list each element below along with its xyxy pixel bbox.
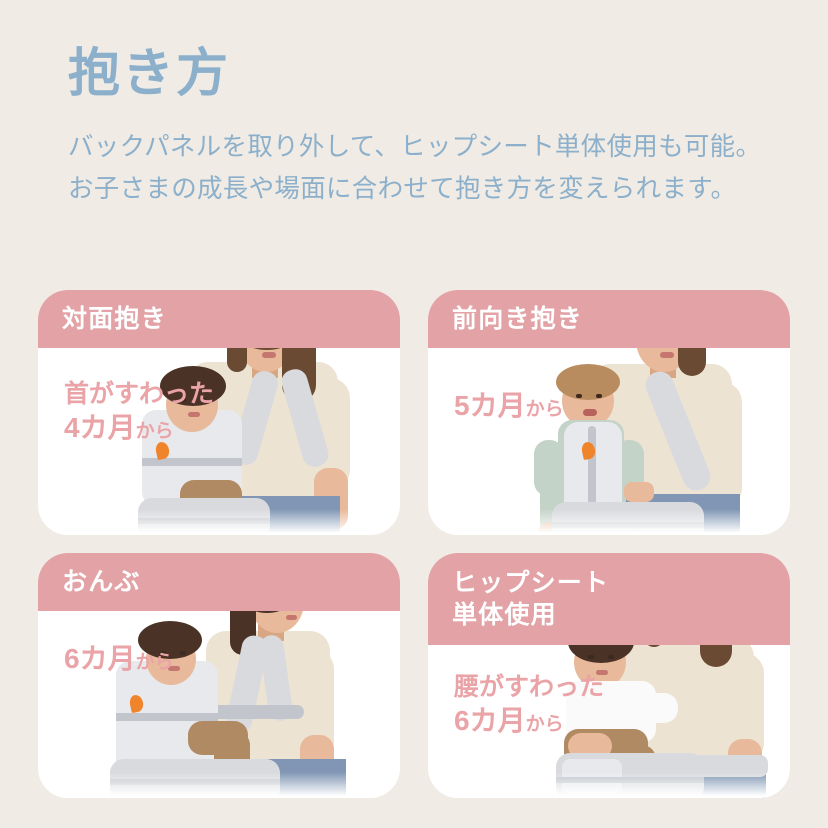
caption-condition: 腰がすわった [454,671,604,703]
card-back-carry[interactable]: おんぶ 6カ月から [38,553,400,798]
card-caption-front-carry: 首がすわった 4カ月から [64,378,214,446]
card-band-forward-facing: 前向き抱き [428,290,790,348]
card-band-back-carry: おんぶ [38,553,400,611]
photo-bottom-fade [428,509,790,535]
card-band-label: おんぶ [62,566,400,598]
subtitle-line-2: お子さまの成長や場面に合わせて抱き方を変えられます。 [68,168,788,210]
photo-bottom-fade [38,772,400,798]
photo-bottom-fade [428,772,790,798]
caption-age: 5カ月 [454,390,526,421]
card-grid: 対面抱き 首がすわった 4カ月から [38,290,790,798]
card-band-label-line1: ヒップシート [452,567,790,599]
infographic-page: 抱き方 バックパネルを取り外して、ヒップシート単体使用も可能。 お子さまの成長や… [0,0,828,828]
caption-suffix: から [136,421,174,442]
header: 抱き方 バックパネルを取り外して、ヒップシート単体使用も可能。 お子さまの成長や… [68,48,788,210]
page-title: 抱き方 [68,48,788,100]
card-band-label-line2: 単体使用 [452,599,790,631]
caption-age: 6カ月 [64,643,136,674]
card-hip-seat-only[interactable]: ヒップシート 単体使用 腰がすわった 6カ月から [428,553,790,798]
card-caption-forward-facing: 5カ月から [454,388,564,424]
subtitle-line-1: バックパネルを取り外して、ヒップシート単体使用も可能。 [68,126,788,168]
card-band-label: 前向き抱き [452,303,790,335]
caption-suffix: から [526,714,564,735]
caption-condition: 首がすわった [64,378,214,410]
card-caption-back-carry: 6カ月から [64,641,174,677]
card-front-carry[interactable]: 対面抱き 首がすわった 4カ月から [38,290,400,535]
caption-suffix: から [526,399,564,420]
photo-bottom-fade [38,509,400,535]
caption-suffix: から [136,652,174,673]
caption-age: 6カ月 [454,705,526,736]
card-band-hip-seat-only: ヒップシート 単体使用 [428,553,790,645]
card-caption-hip-seat-only: 腰がすわった 6カ月から [454,671,604,739]
card-band-front-carry: 対面抱き [38,290,400,348]
caption-age: 4カ月 [64,412,136,443]
card-band-label: 対面抱き [62,303,400,335]
card-forward-facing[interactable]: 前向き抱き 5カ月から [428,290,790,535]
